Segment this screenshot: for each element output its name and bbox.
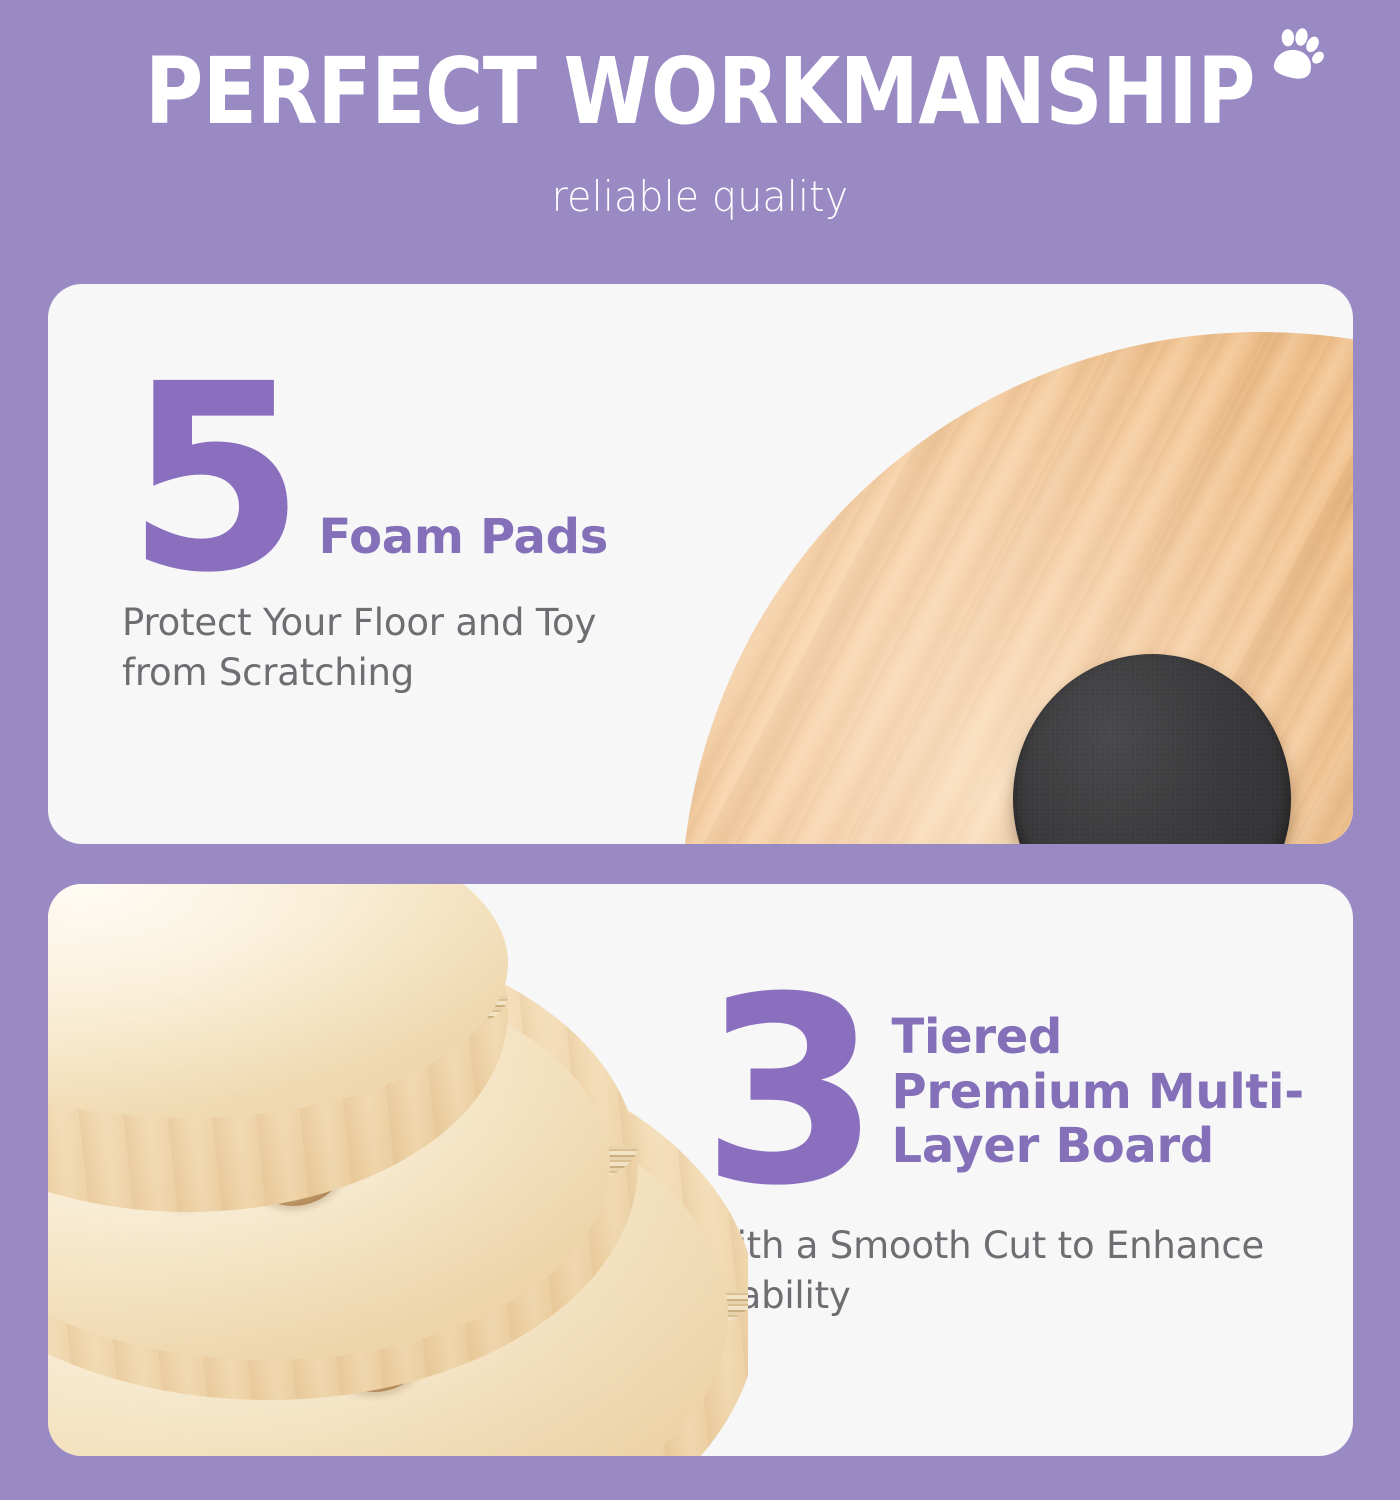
foam-pads-count: 5 — [126, 379, 303, 580]
page-subtitle: reliable quality — [42, 176, 1358, 218]
wooden-disc — [681, 332, 1353, 844]
foam-pad-photo — [563, 284, 1353, 844]
product-feature-page: PERFECT WORKMANSHIP reliable quality — [0, 0, 1400, 1500]
page-title: PERFECT WORKMANSHIP — [28, 46, 1372, 138]
foam-pads-headline-row: 5 Foam Pads — [122, 379, 652, 580]
foam-pads-headline: Foam Pads — [319, 511, 608, 580]
tiered-board-text-block: 3 Tiered Premium Multi-Layer Board With … — [701, 992, 1311, 1321]
feature-card-foam-pads: 5 Foam Pads Protect Your Floor and Toy f… — [48, 284, 1353, 844]
tiered-board-headline: Tiered Premium Multi-Layer Board — [892, 1010, 1311, 1174]
header-banner: PERFECT WORKMANSHIP reliable quality — [0, 0, 1400, 252]
tiered-board-photo — [48, 884, 748, 1456]
black-foam-pad — [1013, 654, 1291, 844]
foam-pads-text-block: 5 Foam Pads Protect Your Floor and Toy f… — [122, 379, 652, 698]
feature-card-tiered-board: 3 Tiered Premium Multi-Layer Board With … — [48, 884, 1353, 1456]
tiered-board-count: 3 — [701, 992, 878, 1193]
tiered-board-headline-row: 3 Tiered Premium Multi-Layer Board — [701, 992, 1311, 1193]
foam-pads-subcopy: Protect Your Floor and Toy from Scratchi… — [122, 598, 652, 698]
tiered-board-subcopy: With a Smooth Cut to Enhance Stability — [701, 1221, 1311, 1321]
